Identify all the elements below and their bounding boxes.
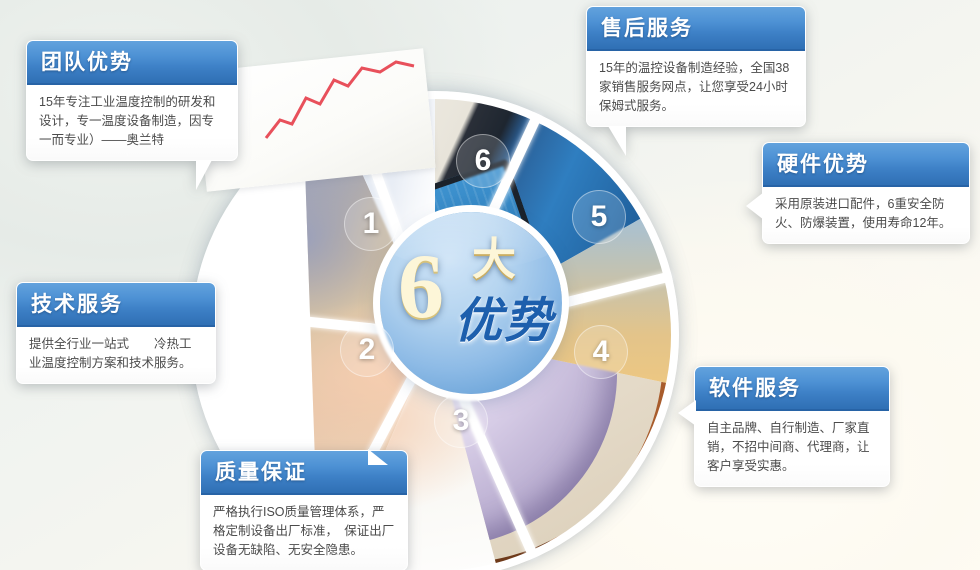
callout-software-pointer xyxy=(678,400,696,426)
segment-number-6[interactable]: 6 xyxy=(456,134,510,188)
callout-hardware-advantage[interactable]: 硬件优势 采用原装进口配件，6重安全防火、防爆装置，使用寿命12年。 xyxy=(762,142,970,244)
callout-hardware-pointer xyxy=(746,192,764,220)
segment-number-5[interactable]: 5 xyxy=(572,190,626,244)
callout-technical-title: 技术服务 xyxy=(17,283,215,327)
callout-after-sales-title: 售后服务 xyxy=(587,7,805,51)
callout-technical-service[interactable]: 技术服务 提供全行业一站式 冷热工业温度控制方案和技术服务。 xyxy=(16,282,216,384)
callout-technical-body: 提供全行业一站式 冷热工业温度控制方案和技术服务。 xyxy=(17,327,215,383)
hub-measure-word: 大 xyxy=(472,238,516,282)
infographic-poster: 1 2 3 4 5 6 6 大 优势 团队优势 15年专注工业温度控制的研发和设… xyxy=(0,0,980,570)
callout-team-title: 团队优势 xyxy=(27,41,237,85)
hub-number-six: 6 xyxy=(398,240,444,332)
segment-number-2[interactable]: 2 xyxy=(340,323,394,377)
callout-team-advantage[interactable]: 团队优势 15年专注工业温度控制的研发和设计，专一温度设备制造，因专一而专业）—… xyxy=(26,40,238,161)
callout-after-sales-body: 15年的温控设备制造经验，全国38家销售服务网点，让您享受24小时保姆式服务。 xyxy=(587,51,805,126)
callout-software-body: 自主品牌、自行制造、厂家直销，不招中间商、代理商，让客户享受实惠。 xyxy=(695,411,889,486)
segment-number-4[interactable]: 4 xyxy=(574,325,628,379)
callout-hardware-body: 采用原装进口配件，6重安全防火、防爆装置，使用寿命12年。 xyxy=(763,187,969,243)
callout-after-sales-service[interactable]: 售后服务 15年的温控设备制造经验，全国38家销售服务网点，让您享受24小时保姆… xyxy=(586,6,806,127)
callout-software-title: 软件服务 xyxy=(695,367,889,411)
segment-number-1[interactable]: 1 xyxy=(344,197,398,251)
callout-team-pointer xyxy=(196,160,212,190)
callout-team-body: 15年专注工业温度控制的研发和设计，专一温度设备制造，因专一而专业）——奥兰特 xyxy=(27,85,237,160)
callout-technical-pointer xyxy=(198,344,216,370)
callout-hardware-title: 硬件优势 xyxy=(763,143,969,187)
callout-software-service[interactable]: 软件服务 自主品牌、自行制造、厂家直销，不招中间商、代理商，让客户享受实惠。 xyxy=(694,366,890,487)
segment-number-3[interactable]: 3 xyxy=(434,394,488,448)
hub-advantage-text: 优势 xyxy=(454,296,554,348)
callout-quality-body: 严格执行ISO质量管理体系，严格定制设备出厂标准， 保证出厂设备无缺陷、无安全隐… xyxy=(201,495,407,570)
callout-after-sales-pointer xyxy=(608,126,626,156)
callout-quality-assurance[interactable]: 质量保证 严格执行ISO质量管理体系，严格定制设备出厂标准， 保证出厂设备无缺陷… xyxy=(200,450,408,570)
center-hub: 6 大 优势 xyxy=(380,212,562,394)
callout-quality-pointer xyxy=(368,449,388,465)
